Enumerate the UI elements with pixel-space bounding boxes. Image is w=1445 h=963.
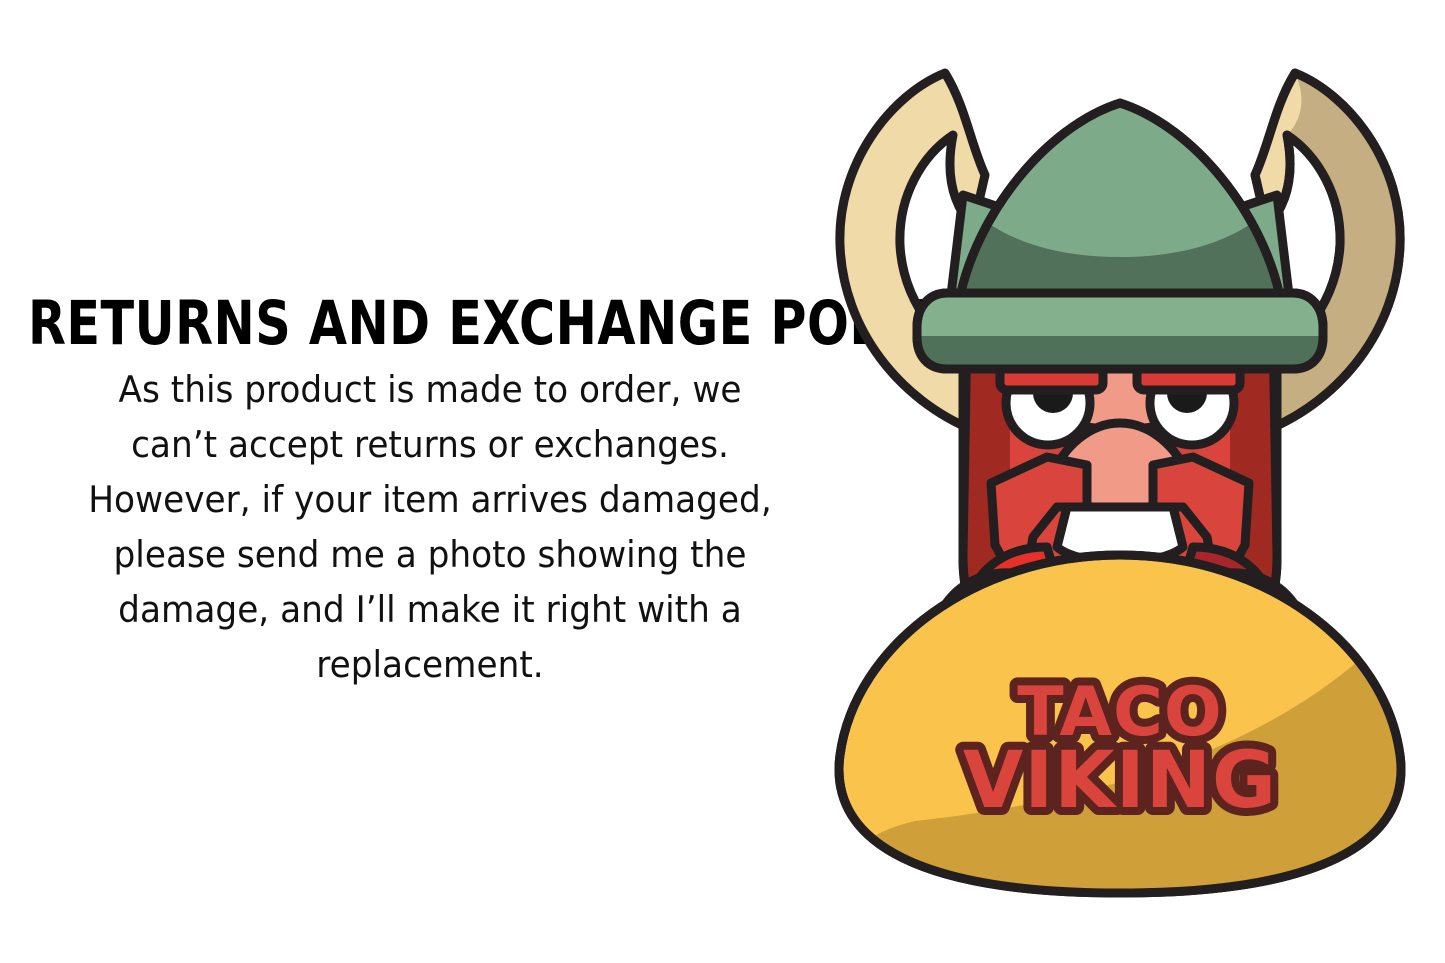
policy-body-line: please send me a photo showing the [54, 527, 806, 582]
helmet-group [917, 103, 1323, 369]
policy-body-line: However, if your item arrives damaged, [54, 472, 806, 527]
policy-body-line: damage, and I’ll make it right with a [54, 582, 806, 637]
taco-viking-illustration: TACO TACO VIKING VIKING [795, 55, 1445, 905]
taco-viking-svg: TACO TACO VIKING VIKING [795, 55, 1445, 905]
page-title: Returns and Exchange Policy [28, 294, 791, 354]
text-column: Returns and Exchange Policy As this prod… [0, 0, 860, 963]
policy-body-line: replacement. [54, 637, 806, 692]
policy-card: Returns and Exchange Policy As this prod… [0, 0, 1445, 963]
policy-body-text: As this product is made to order, we can… [54, 362, 806, 692]
policy-body-line: can’t accept returns or exchanges. [54, 417, 806, 472]
helmet-brim-shadow [919, 336, 1321, 369]
logo-line-viking: VIKING [963, 736, 1277, 826]
policy-body-line: As this product is made to order, we [54, 362, 806, 417]
